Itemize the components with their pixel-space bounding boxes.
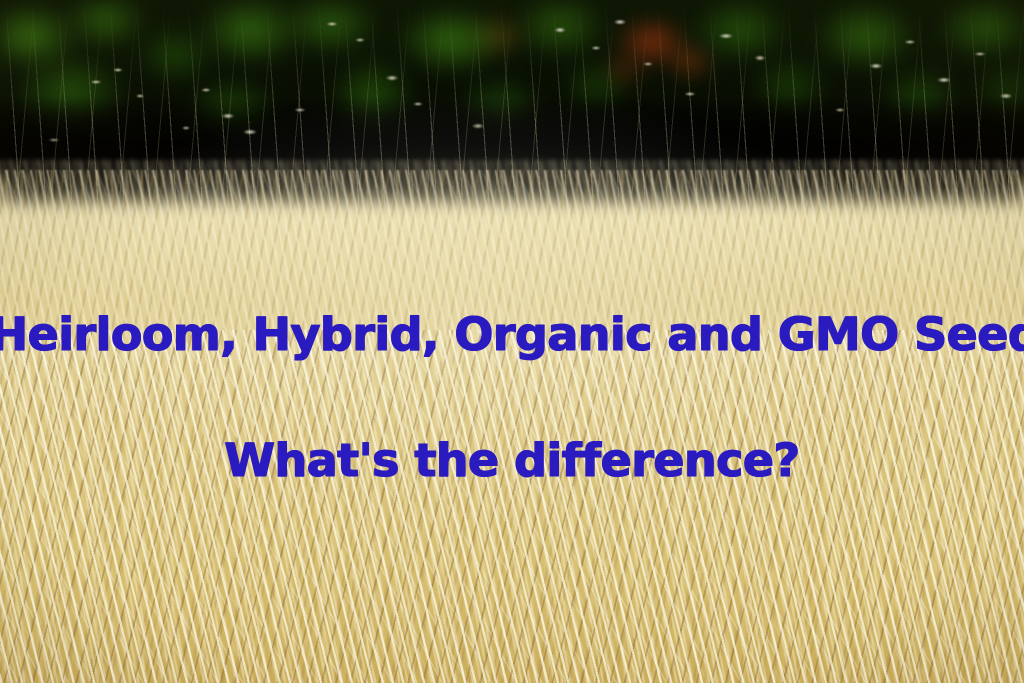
seed-poster-image: Heirloom, Hybrid, Organic and GMO Seeds!… — [0, 0, 1024, 683]
oat-spikelet-highlights — [0, 0, 1024, 320]
near-grass-texture-layer — [0, 330, 1024, 683]
